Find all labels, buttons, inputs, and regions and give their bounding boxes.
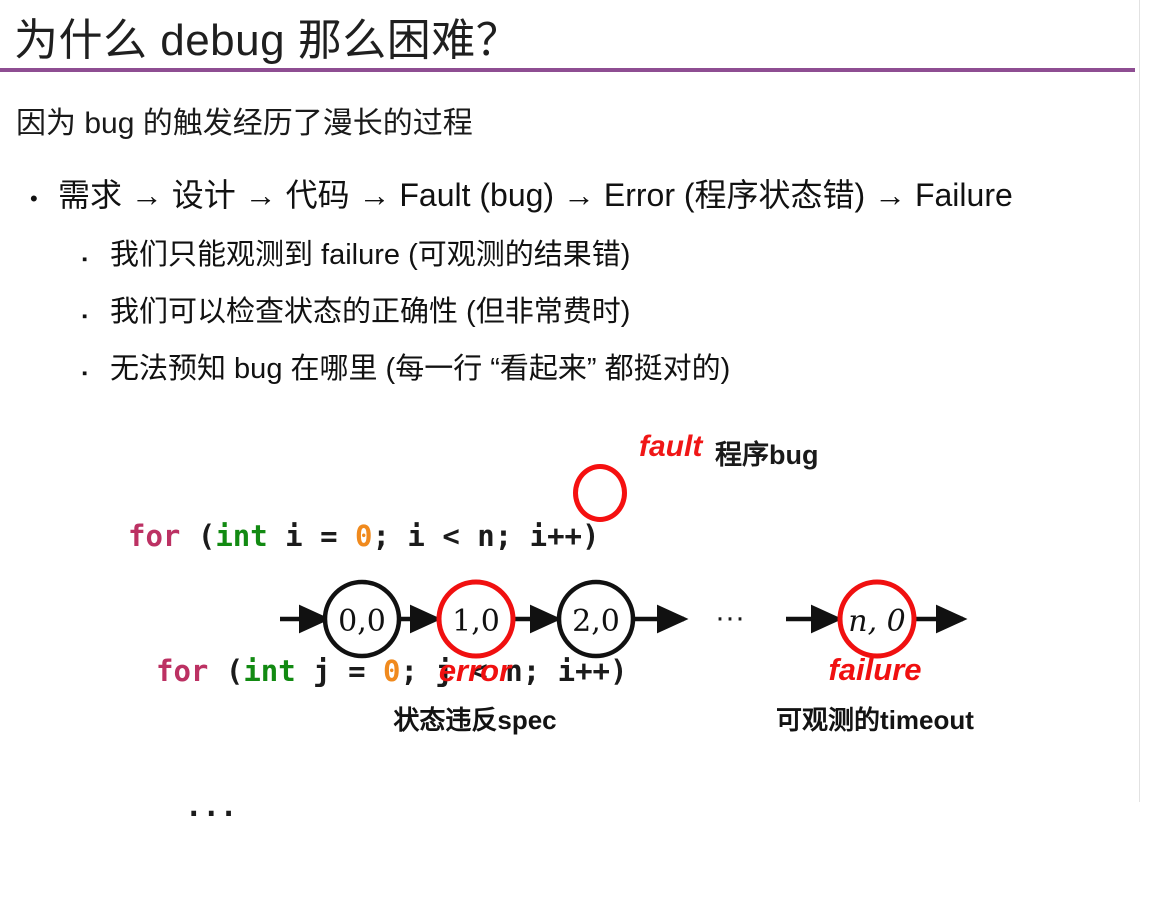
state-label-1-0: 1,0 <box>452 604 500 639</box>
failure-caption: failure <box>790 652 960 688</box>
bullet-dot-icon: • <box>30 188 58 210</box>
bullet-level2: ▪ 无法预知 bug 在哪里 (每一行 “看起来” 都挺对的) <box>82 345 730 387</box>
state-label-n-0: n, 0 <box>848 604 905 639</box>
error-caption: error <box>395 653 555 689</box>
bullet-level2-text: 无法预知 bug 在哪里 (每一行 “看起来” 都挺对的) <box>110 345 730 387</box>
code-line-1: for (int i = 0; i < n; i++) <box>128 514 627 559</box>
code-expr: i = <box>268 519 355 553</box>
bullet-level2-text: 我们可以检查状态的正确性 (但非常费时) <box>110 288 630 330</box>
error-caption-sub: 状态违反spec <box>375 700 575 737</box>
bullet-square-icon: ▪ <box>82 366 110 381</box>
code-type-int: int <box>215 519 267 553</box>
code-number: 0 <box>355 519 372 553</box>
title-divider <box>0 68 1135 72</box>
bullet-square-icon: ▪ <box>82 309 110 324</box>
bullet-level2-text: 我们只能观测到 failure (可观测的结果错) <box>110 231 630 273</box>
code-punct: ( <box>180 519 215 553</box>
bullet-square-icon: ▪ <box>82 252 110 267</box>
state-label-0-0: 0,0 <box>338 604 386 639</box>
diagram-ellipsis: ··· <box>715 601 745 634</box>
code-expr-tail: ; i < n; i++) <box>372 519 599 553</box>
fault-annotation-note: 程序bug <box>715 433 818 472</box>
code-keyword-for: for <box>128 519 180 553</box>
bug-highlight-circle <box>573 464 627 522</box>
subtitle: 因为 bug 的触发经历了漫长的过程 <box>16 98 473 142</box>
state-diagram: 0,0 1,0 2,0 n, 0 ··· <box>0 565 1154 685</box>
fault-annotation-label: fault <box>639 430 702 464</box>
state-label-2-0: 2,0 <box>572 604 620 639</box>
page-title: 为什么 debug 那么困难？ <box>14 4 520 68</box>
bullet-level1: • 需求 → 设计 → 代码 → Fault (bug) → Error (程序… <box>30 170 1013 216</box>
failure-caption-sub: 可观测的timeout <box>760 700 990 737</box>
code-line-3-ellipsis: ... <box>128 784 627 829</box>
bullet-level2: ▪ 我们只能观测到 failure (可观测的结果错) <box>82 231 630 273</box>
slide-canvas: 为什么 debug 那么困难？ 因为 bug 的触发经历了漫长的过程 • 需求 … <box>0 0 1154 802</box>
bullet-level1-text: 需求 → 设计 → 代码 → Fault (bug) → Error (程序状态… <box>58 170 1013 216</box>
bullet-level2: ▪ 我们可以检查状态的正确性 (但非常费时) <box>82 288 630 330</box>
